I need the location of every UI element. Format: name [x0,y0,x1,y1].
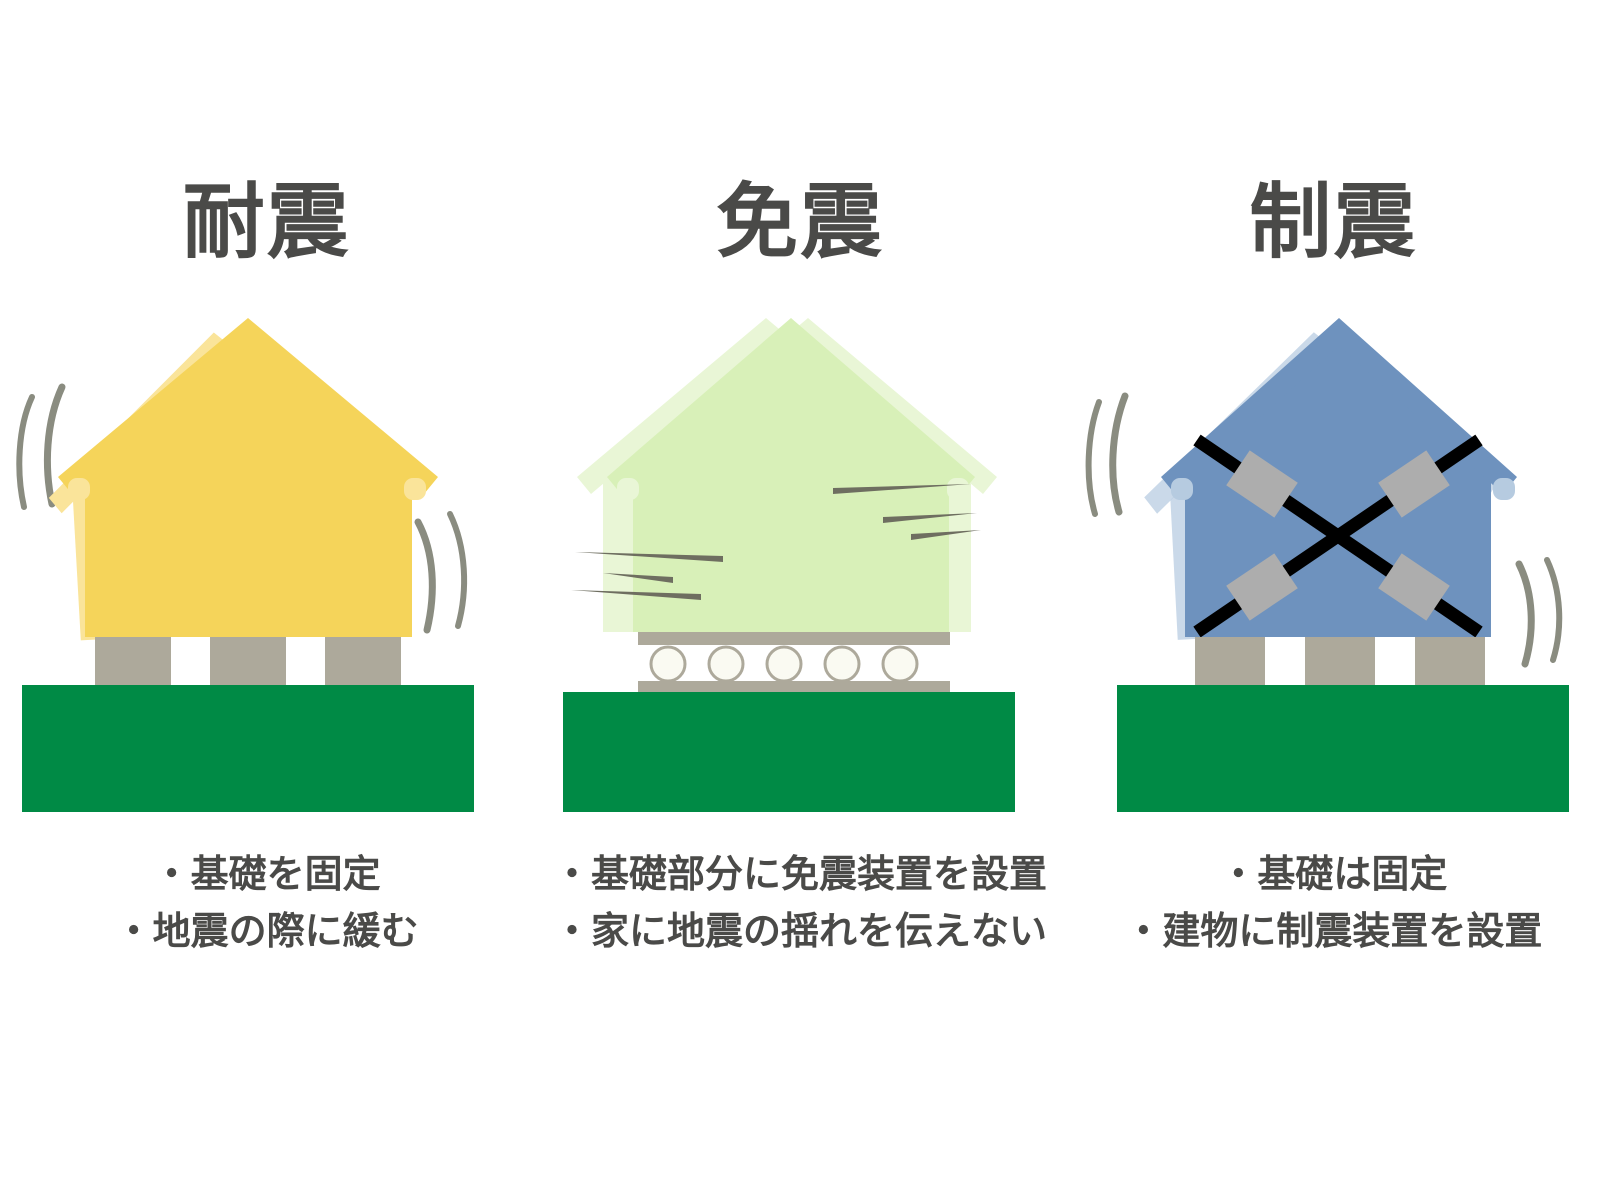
column-seishin: 制震 [1067,0,1600,1200]
column-title-taishin: 耐震 [183,182,351,278]
diagram-board: 耐震 [0,0,1600,1200]
house-shape [1161,318,1517,637]
figure-menshin [533,292,1066,812]
ground-block [22,685,474,812]
captions-taishin: ・基礎を固定 ・地震の際に緩む [115,850,419,958]
column-title-menshin: 免震 [716,182,884,278]
caption-line: ・建物に制震装置を設置 [1124,907,1542,958]
foundation-pillars [95,637,401,685]
ground-block [1117,685,1569,812]
figure-seishin [1067,292,1600,812]
caption-line: ・基礎部分に免震装置を設置 [553,850,1047,901]
house-shape [58,318,438,637]
column-taishin: 耐震 [0,0,533,1200]
ground-block [563,692,1015,812]
bearing-rollers [651,647,917,681]
captions-menshin: ・基礎部分に免震装置を設置 ・家に地震の揺れを伝えない [553,850,1047,958]
motion-arc-right-icon [418,514,464,630]
caption-line: ・基礎は固定 [1219,850,1447,901]
motion-arc-left-icon [19,387,62,507]
column-container: 耐震 [0,0,1600,1200]
caption-line: ・家に地震の揺れを伝えない [553,907,1047,958]
house-shape [607,318,975,632]
bearing-top-plate [638,632,950,645]
caption-line: ・地震の際に緩む [115,907,419,958]
isolation-bearing [638,632,950,694]
column-title-seishin: 制震 [1249,182,1417,278]
column-menshin: 免震 [533,0,1066,1200]
foundation-pillars [1195,637,1485,685]
captions-seishin: ・基礎は固定 ・建物に制震装置を設置 [1124,850,1542,958]
figure-taishin [0,292,533,812]
caption-line: ・基礎を固定 [153,850,381,901]
motion-arc-left-icon [1088,396,1124,514]
motion-arc-right-icon [1519,560,1559,664]
